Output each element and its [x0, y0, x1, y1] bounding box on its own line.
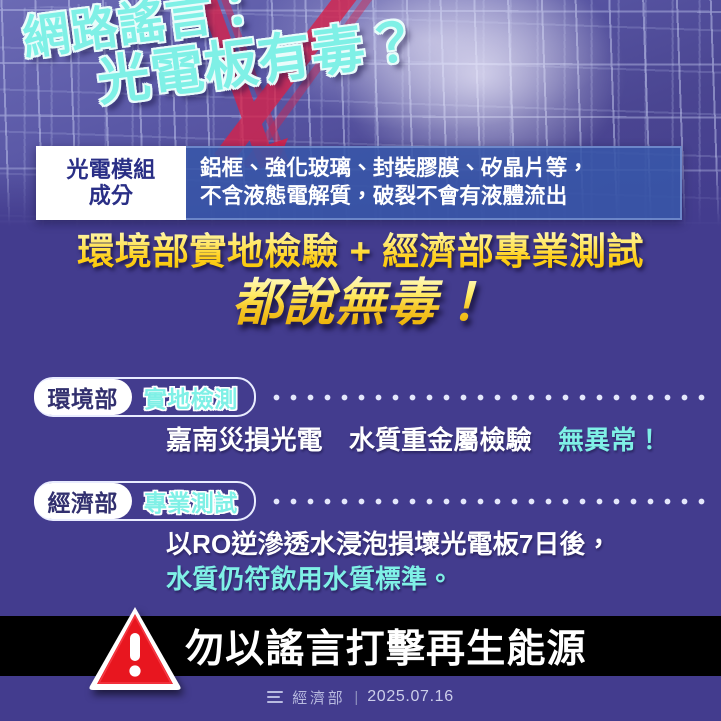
- banner-message: 勿以謠言打擊再生能源: [185, 616, 587, 676]
- gold-headline-line-1: 環境部實地檢驗 + 經濟部專業測試: [0, 232, 721, 273]
- composition-body: 鋁框、強化玻璃、封裝膠膜、矽晶片等， 不含液態電解質，破裂不會有液體流出: [186, 146, 682, 220]
- finding-line-text: 嘉南災損光電 水質重金屬檢驗: [166, 425, 558, 455]
- composition-info-box: 光電模組 成分 鋁框、強化玻璃、封裝膠膜、矽晶片等， 不含液態電解質，破裂不會有…: [36, 146, 682, 220]
- finding-line: 以RO逆滲透水浸泡損壞光電板7日後，: [166, 527, 721, 562]
- ministry-bars-icon: [267, 691, 283, 703]
- finding-body: 以RO逆滲透水浸泡損壞光電板7日後， 水質仍符飲用水質標準。: [166, 527, 721, 596]
- footer-org: 經濟部: [292, 687, 345, 708]
- dotted-rule: [268, 394, 705, 401]
- composition-label-line-1: 光電模組: [67, 157, 156, 183]
- footer: 經濟部 | 2025.07.16: [0, 682, 721, 712]
- agency-pill: 環境部 實地檢測: [34, 377, 256, 417]
- gold-headline: 環境部實地檢驗 + 經濟部專業測試 都說無毒！: [0, 232, 721, 330]
- agency-name: 環境部: [34, 379, 132, 415]
- footer-separator: |: [354, 689, 358, 706]
- footer-date: 2025.07.16: [367, 688, 453, 706]
- agency-name: 經濟部: [34, 483, 132, 519]
- poster-root: 網路謠言： 光電板有毒？ 光電模組 成分 鋁框、強化玻璃、封裝膠膜、矽晶片等， …: [0, 0, 721, 721]
- agency-tag: 實地檢測: [132, 380, 238, 414]
- composition-label-line-2: 成分: [89, 183, 133, 209]
- dotted-rule: [268, 498, 705, 505]
- finding-pill-row: 經濟部 專業測試: [34, 482, 721, 520]
- agency-pill: 經濟部 專業測試: [34, 481, 256, 521]
- agency-tag: 專業測試: [132, 484, 238, 518]
- composition-label: 光電模組 成分: [36, 146, 186, 220]
- finding-line-highlight: 無異常！: [558, 425, 663, 455]
- warning-triangle-icon: [88, 604, 182, 692]
- finding-line: 水質仍符飲用水質標準。: [166, 562, 721, 597]
- gold-headline-line-2: 都說無毒！: [0, 275, 721, 330]
- finding-line: 嘉南災損光電 水質重金屬檢驗 無異常！: [166, 423, 721, 458]
- finding-body: 嘉南災損光電 水質重金屬檢驗 無異常！: [166, 423, 721, 458]
- finding-section-economy: 經濟部 專業測試 以RO逆滲透水浸泡損壞光電板7日後， 水質仍符飲用水質標準。: [0, 482, 721, 596]
- finding-pill-row: 環境部 實地檢測: [34, 378, 721, 416]
- finding-section-environment: 環境部 實地檢測 嘉南災損光電 水質重金屬檢驗 無異常！: [0, 378, 721, 458]
- composition-body-line-2: 不含液態電解質，破裂不會有液體流出: [200, 183, 670, 211]
- composition-body-line-1: 鋁框、強化玻璃、封裝膠膜、矽晶片等，: [200, 155, 670, 183]
